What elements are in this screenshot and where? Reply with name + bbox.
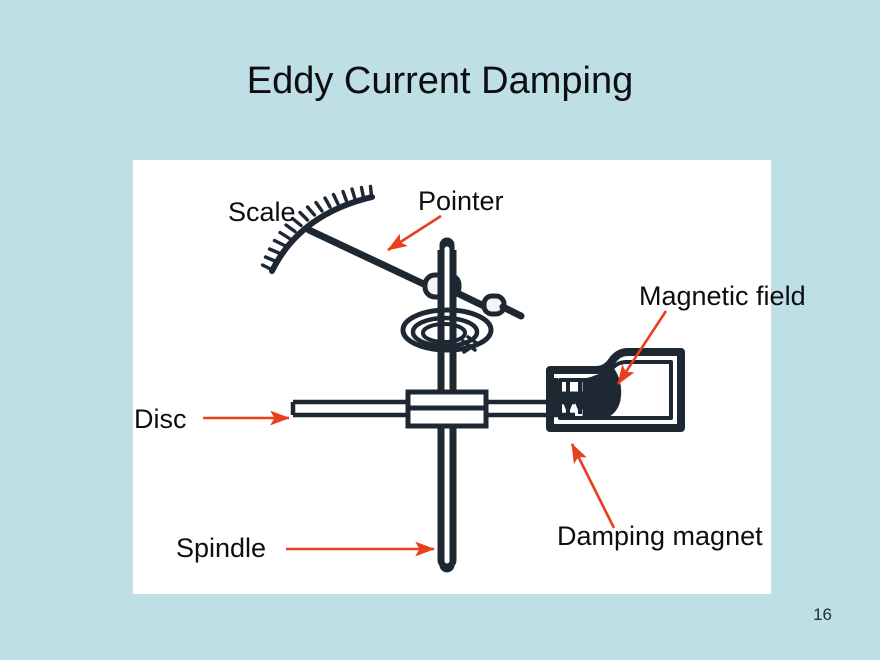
label-scale: Scale <box>228 197 296 227</box>
label-disc: Disc <box>134 404 187 434</box>
slide: Eddy Current Damping <box>0 0 880 660</box>
label-spindle: Spindle <box>176 533 266 563</box>
label-damping-magnet: Damping magnet <box>557 521 763 551</box>
label-pointer: Pointer <box>418 186 504 216</box>
page-title: Eddy Current Damping <box>0 58 880 104</box>
slide-number: 16 <box>813 605 832 625</box>
label-magnetic-field: Magnetic field <box>639 281 806 311</box>
